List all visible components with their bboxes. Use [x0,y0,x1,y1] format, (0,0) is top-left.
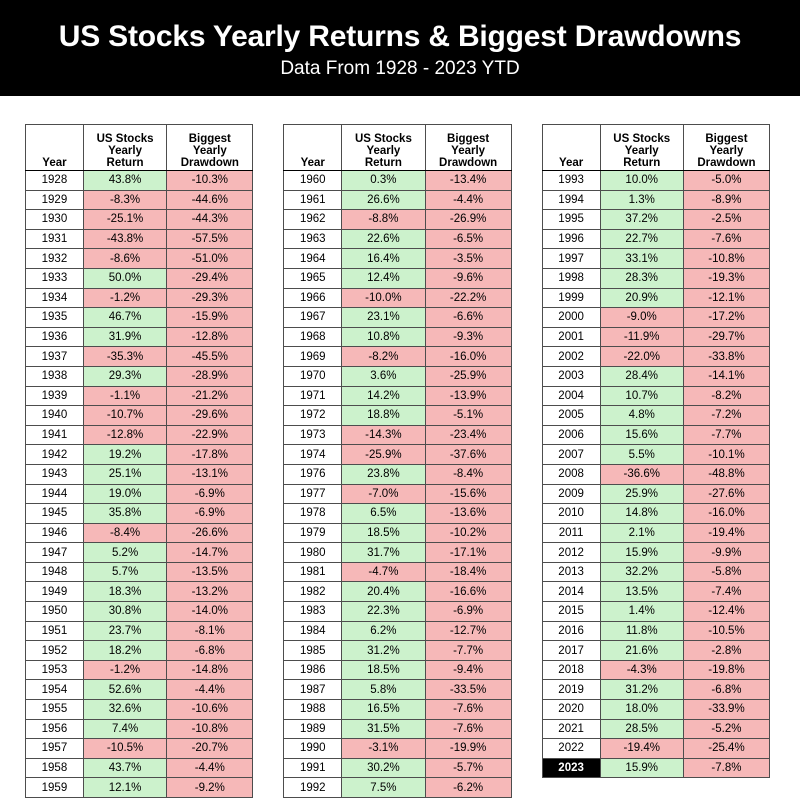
yearly-return-cell: 5.2% [83,543,166,563]
yearly-return-cell: 13.5% [600,582,683,602]
table-1960-1992: YearUS StocksYearlyReturnBiggestYearlyDr… [283,124,511,798]
biggest-drawdown-cell: -5.1% [425,406,511,426]
year-cell: 2008 [542,464,600,484]
yearly-return-cell: 6.2% [342,621,425,641]
yearly-return-cell: 3.6% [342,366,425,386]
biggest-drawdown-cell: -17.8% [167,445,253,465]
table-row: 195218.2%-6.8% [26,641,253,661]
biggest-drawdown-cell: -6.8% [167,641,253,661]
table-row: 1946-8.4%-26.6% [26,523,253,543]
table-row: 197218.8%-5.1% [284,406,511,426]
year-cell: 1989 [284,719,342,739]
biggest-drawdown-cell: -6.9% [167,484,253,504]
biggest-drawdown-cell: -44.6% [167,190,253,210]
table-row: 199920.9%-12.1% [542,288,769,308]
biggest-drawdown-cell: -6.5% [425,229,511,249]
year-cell: 1966 [284,288,342,308]
year-cell: 1955 [26,700,84,720]
yearly-return-cell: 5.5% [600,445,683,465]
table-row: 19927.5%-6.2% [284,778,511,798]
table-row: 196126.6%-4.4% [284,190,511,210]
tables-container: YearUS StocksYearlyReturnBiggestYearlyDr… [0,124,800,798]
table-row: 198220.4%-16.6% [284,582,511,602]
biggest-drawdown-cell: -23.4% [425,425,511,445]
yearly-return-cell: 18.5% [342,660,425,680]
table-1993-2023: YearUS StocksYearlyReturnBiggestYearlyDr… [542,124,770,778]
year-cell: 2000 [542,308,600,328]
year-cell: 1953 [26,660,84,680]
year-cell-highlighted: 2023 [542,758,600,778]
table-row: 1973-14.3%-23.4% [284,425,511,445]
yearly-return-cell: 2.1% [600,523,683,543]
year-cell: 1996 [542,229,600,249]
table-row: 201931.2%-6.8% [542,680,769,700]
table-row: 193631.9%-12.8% [26,327,253,347]
column-header-line: Yearly [426,145,511,157]
table-row: 197623.8%-8.4% [284,464,511,484]
biggest-drawdown-cell: -29.4% [167,268,253,288]
table-row: 198816.5%-7.6% [284,700,511,720]
yearly-return-cell: 10.8% [342,327,425,347]
biggest-drawdown-cell: -57.5% [167,229,253,249]
year-cell: 1994 [542,190,600,210]
table-row: 201721.6%-2.8% [542,641,769,661]
year-cell: 2016 [542,621,600,641]
table-row: 1953-1.2%-14.8% [26,660,253,680]
year-cell: 1932 [26,249,84,269]
table-row: 202315.9%-7.8% [542,758,769,778]
table-1928-1959: YearUS StocksYearlyReturnBiggestYearlyDr… [25,124,253,798]
biggest-drawdown-cell: -8.1% [167,621,253,641]
yearly-return-cell: -1.2% [83,288,166,308]
column-header-line: Drawdown [167,157,252,169]
biggest-drawdown-cell: -12.1% [683,288,769,308]
year-cell: 2009 [542,484,600,504]
biggest-drawdown-cell: -6.6% [425,308,511,328]
yearly-return-cell: 31.2% [600,680,683,700]
year-cell: 1998 [542,268,600,288]
column-header-yearly-return: US StocksYearlyReturn [342,125,425,171]
year-cell: 1942 [26,445,84,465]
yearly-return-cell: 23.1% [342,308,425,328]
table-row: 196416.4%-3.5% [284,249,511,269]
biggest-drawdown-cell: -5.0% [683,171,769,191]
yearly-return-cell: -4.3% [600,660,683,680]
biggest-drawdown-cell: -19.3% [683,268,769,288]
year-cell: 1944 [26,484,84,504]
table-row: 197114.2%-13.9% [284,386,511,406]
biggest-drawdown-cell: -21.2% [167,386,253,406]
column-header-biggest-drawdown: BiggestYearlyDrawdown [167,125,253,171]
yearly-return-cell: 11.8% [600,621,683,641]
table-row: 200925.9%-27.6% [542,484,769,504]
yearly-return-cell: 43.8% [83,171,166,191]
year-cell: 2022 [542,739,600,759]
table-row: 1940-10.7%-29.6% [26,406,253,426]
biggest-drawdown-cell: -10.3% [167,171,253,191]
yearly-return-cell: 52.6% [83,680,166,700]
table-row: 201332.2%-5.8% [542,562,769,582]
biggest-drawdown-cell: -7.6% [683,229,769,249]
year-cell: 1952 [26,641,84,661]
biggest-drawdown-cell: -29.6% [167,406,253,426]
biggest-drawdown-cell: -10.2% [425,523,511,543]
year-cell: 1971 [284,386,342,406]
yearly-return-cell: 10.0% [600,171,683,191]
biggest-drawdown-cell: -8.2% [683,386,769,406]
table-row: 199828.3%-19.3% [542,268,769,288]
table-row: 1932-8.6%-51.0% [26,249,253,269]
yearly-return-cell: 4.8% [600,406,683,426]
column-header-line: US Stocks [601,133,683,145]
yearly-return-cell: 19.2% [83,445,166,465]
year-cell: 1997 [542,249,600,269]
biggest-drawdown-cell: -7.4% [683,582,769,602]
year-cell: 2019 [542,680,600,700]
yearly-return-cell: 28.5% [600,719,683,739]
year-cell: 1957 [26,739,84,759]
column-header-line: US Stocks [342,133,424,145]
table-row: 1930-25.1%-44.3% [26,210,253,230]
yearly-return-cell: 5.7% [83,562,166,582]
yearly-return-cell: 1.3% [600,190,683,210]
table-row: 19703.6%-25.9% [284,366,511,386]
column-header-line: Yearly [684,145,769,157]
year-cell: 1965 [284,268,342,288]
table-row: 202128.5%-5.2% [542,719,769,739]
year-cell: 2007 [542,445,600,465]
yearly-return-cell: 25.9% [600,484,683,504]
table-row: 20075.5%-10.1% [542,445,769,465]
header-banner: US Stocks Yearly Returns & Biggest Drawd… [0,0,800,96]
year-cell: 1936 [26,327,84,347]
biggest-drawdown-cell: -13.6% [425,504,511,524]
year-cell: 2003 [542,366,600,386]
year-cell: 1937 [26,347,84,367]
table-row: 195030.8%-14.0% [26,602,253,622]
biggest-drawdown-cell: -17.2% [683,308,769,328]
yearly-return-cell: 31.5% [342,719,425,739]
table-row: 1969-8.2%-16.0% [284,347,511,367]
year-cell: 1984 [284,621,342,641]
column-header-biggest-drawdown: BiggestYearlyDrawdown [683,125,769,171]
yearly-return-cell: -8.4% [83,523,166,543]
biggest-drawdown-cell: -10.6% [167,700,253,720]
yearly-return-cell: -9.0% [600,308,683,328]
year-cell: 2001 [542,327,600,347]
biggest-drawdown-cell: -14.7% [167,543,253,563]
yearly-return-cell: 7.5% [342,778,425,798]
biggest-drawdown-cell: -25.9% [425,366,511,386]
page-title: US Stocks Yearly Returns & Biggest Drawd… [59,21,742,53]
table-row: 194419.0%-6.9% [26,484,253,504]
year-cell: 1935 [26,308,84,328]
yearly-return-cell: 31.9% [83,327,166,347]
year-cell: 1962 [284,210,342,230]
yearly-return-cell: 35.8% [83,504,166,524]
table-row: 198322.3%-6.9% [284,602,511,622]
yearly-return-cell: 32.6% [83,700,166,720]
biggest-drawdown-cell: -16.6% [425,582,511,602]
year-cell: 2005 [542,406,600,426]
table-row: 196810.8%-9.3% [284,327,511,347]
biggest-drawdown-cell: -25.4% [683,739,769,759]
biggest-drawdown-cell: -5.8% [683,562,769,582]
yearly-return-cell: 20.9% [600,288,683,308]
biggest-drawdown-cell: -9.4% [425,660,511,680]
yearly-return-cell: 5.8% [342,680,425,700]
yearly-return-cell: 6.5% [342,504,425,524]
yearly-return-cell: 22.6% [342,229,425,249]
table-row: 196512.4%-9.6% [284,268,511,288]
year-cell: 1929 [26,190,84,210]
biggest-drawdown-cell: -10.8% [683,249,769,269]
table-row: 1981-4.7%-18.4% [284,562,511,582]
year-cell: 2006 [542,425,600,445]
biggest-drawdown-cell: -9.9% [683,543,769,563]
biggest-drawdown-cell: -6.9% [167,504,253,524]
table-row: 1977-7.0%-15.6% [284,484,511,504]
year-cell: 1968 [284,327,342,347]
biggest-drawdown-cell: -4.4% [167,758,253,778]
biggest-drawdown-cell: -13.1% [167,464,253,484]
biggest-drawdown-cell: -7.8% [683,758,769,778]
biggest-drawdown-cell: -15.6% [425,484,511,504]
biggest-drawdown-cell: -7.7% [683,425,769,445]
table-row: 200328.4%-14.1% [542,366,769,386]
year-cell: 1999 [542,288,600,308]
column-header-yearly-return: US StocksYearlyReturn [600,125,683,171]
yearly-return-cell: -1.2% [83,660,166,680]
column-header-line: Yearly [84,145,166,157]
table-row: 2008-36.6%-48.8% [542,464,769,484]
year-cell: 1986 [284,660,342,680]
year-cell: 1928 [26,171,84,191]
yearly-return-cell: -10.5% [83,739,166,759]
yearly-return-cell: 16.5% [342,700,425,720]
biggest-drawdown-cell: -13.9% [425,386,511,406]
year-cell: 1974 [284,445,342,465]
table-row: 195532.6%-10.6% [26,700,253,720]
year-cell: 1976 [284,464,342,484]
biggest-drawdown-cell: -9.6% [425,268,511,288]
table-row: 194535.8%-6.9% [26,504,253,524]
biggest-drawdown-cell: -33.8% [683,347,769,367]
yearly-return-cell: 15.6% [600,425,683,445]
yearly-return-cell: 46.7% [83,308,166,328]
table-row: 201413.5%-7.4% [542,582,769,602]
table-row: 19600.3%-13.4% [284,171,511,191]
biggest-drawdown-cell: -12.7% [425,621,511,641]
yearly-return-cell: 18.5% [342,523,425,543]
yearly-return-cell: 12.4% [342,268,425,288]
yearly-return-cell: -36.6% [600,464,683,484]
yearly-return-cell: 28.3% [600,268,683,288]
yearly-return-cell: 37.2% [600,210,683,230]
biggest-drawdown-cell: -7.2% [683,406,769,426]
page-subtitle: Data From 1928 - 2023 YTD [280,59,519,79]
year-cell: 1951 [26,621,84,641]
biggest-drawdown-cell: -16.0% [683,504,769,524]
biggest-drawdown-cell: -27.6% [683,484,769,504]
biggest-drawdown-cell: -28.9% [167,366,253,386]
biggest-drawdown-cell: -5.7% [425,758,511,778]
table-row: 19875.8%-33.5% [284,680,511,700]
biggest-drawdown-cell: -12.4% [683,602,769,622]
table-row: 1934-1.2%-29.3% [26,288,253,308]
column-header-line: Yearly [601,145,683,157]
year-cell: 1940 [26,406,84,426]
biggest-drawdown-cell: -7.7% [425,641,511,661]
biggest-drawdown-cell: -29.3% [167,288,253,308]
yearly-return-cell: -19.4% [600,739,683,759]
year-cell: 1959 [26,778,84,798]
year-cell: 1970 [284,366,342,386]
biggest-drawdown-cell: -8.4% [425,464,511,484]
year-cell: 1941 [26,425,84,445]
biggest-drawdown-cell: -26.9% [425,210,511,230]
year-cell: 1950 [26,602,84,622]
table-row: 19567.4%-10.8% [26,719,253,739]
table-row: 199622.7%-7.6% [542,229,769,249]
table-row: 19485.7%-13.5% [26,562,253,582]
year-cell: 1978 [284,504,342,524]
yearly-return-cell: 16.4% [342,249,425,269]
table-row: 198931.5%-7.6% [284,719,511,739]
table-row: 195912.1%-9.2% [26,778,253,798]
year-cell: 2021 [542,719,600,739]
year-cell: 1967 [284,308,342,328]
biggest-drawdown-cell: -14.8% [167,660,253,680]
year-cell: 1995 [542,210,600,230]
yearly-return-cell: -8.2% [342,347,425,367]
yearly-return-cell: -25.9% [342,445,425,465]
yearly-return-cell: 30.8% [83,602,166,622]
year-cell: 2018 [542,660,600,680]
year-cell: 2015 [542,602,600,622]
column-header-line: Return [601,157,683,169]
year-cell: 2020 [542,700,600,720]
table-row: 194219.2%-17.8% [26,445,253,465]
table-row: 20054.8%-7.2% [542,406,769,426]
yearly-return-cell: 15.9% [600,758,683,778]
yearly-return-cell: 23.7% [83,621,166,641]
column-header-year: Year [26,125,84,171]
yearly-return-cell: -8.6% [83,249,166,269]
table-row: 2018-4.3%-19.8% [542,660,769,680]
year-cell: 1946 [26,523,84,543]
yearly-return-cell: -11.9% [600,327,683,347]
year-cell: 1934 [26,288,84,308]
year-cell: 1992 [284,778,342,798]
year-cell: 1977 [284,484,342,504]
yearly-return-cell: 50.0% [83,268,166,288]
table-row: 194918.3%-13.2% [26,582,253,602]
column-header-line: Drawdown [684,157,769,169]
column-header-year: Year [542,125,600,171]
biggest-drawdown-cell: -6.8% [683,680,769,700]
table-row: 200615.6%-7.7% [542,425,769,445]
yearly-return-cell: 10.7% [600,386,683,406]
table-row: 196723.1%-6.6% [284,308,511,328]
biggest-drawdown-cell: -29.7% [683,327,769,347]
biggest-drawdown-cell: -33.9% [683,700,769,720]
biggest-drawdown-cell: -45.5% [167,347,253,367]
yearly-return-cell: 33.1% [600,249,683,269]
yearly-return-cell: 18.0% [600,700,683,720]
biggest-drawdown-cell: -5.2% [683,719,769,739]
yearly-return-cell: -25.1% [83,210,166,230]
biggest-drawdown-cell: -51.0% [167,249,253,269]
column-header-biggest-drawdown: BiggestYearlyDrawdown [425,125,511,171]
year-cell: 1985 [284,641,342,661]
biggest-drawdown-cell: -44.3% [167,210,253,230]
year-cell: 2012 [542,543,600,563]
biggest-drawdown-cell: -2.5% [683,210,769,230]
column-header-line: Biggest [684,133,769,145]
table-row: 2022-19.4%-25.4% [542,739,769,759]
table-row: 1929-8.3%-44.6% [26,190,253,210]
table-row: 199310.0%-5.0% [542,171,769,191]
biggest-drawdown-cell: -18.4% [425,562,511,582]
yearly-return-cell: 18.2% [83,641,166,661]
column-header-line: Yearly [167,145,252,157]
year-cell: 1943 [26,464,84,484]
table-block: YearUS StocksYearlyReturnBiggestYearlyDr… [542,124,770,798]
biggest-drawdown-cell: -9.3% [425,327,511,347]
yearly-return-cell: 1.4% [600,602,683,622]
yearly-return-cell: 15.9% [600,543,683,563]
table-row: 1974-25.9%-37.6% [284,445,511,465]
yearly-return-cell: 30.2% [342,758,425,778]
table-row: 199537.2%-2.5% [542,210,769,230]
biggest-drawdown-cell: -14.0% [167,602,253,622]
yearly-return-cell: 14.8% [600,504,683,524]
year-cell: 1956 [26,719,84,739]
table-row: 201014.8%-16.0% [542,504,769,524]
table-row: 1937-35.3%-45.5% [26,347,253,367]
year-cell: 1993 [542,171,600,191]
table-row: 19846.2%-12.7% [284,621,511,641]
column-header-yearly-return: US StocksYearlyReturn [83,125,166,171]
year-cell: 1933 [26,268,84,288]
table-block: YearUS StocksYearlyReturnBiggestYearlyDr… [25,124,253,798]
biggest-drawdown-cell: -4.4% [167,680,253,700]
year-cell: 1972 [284,406,342,426]
table-row: 193350.0%-29.4% [26,268,253,288]
yearly-return-cell: 0.3% [342,171,425,191]
biggest-drawdown-cell: -4.4% [425,190,511,210]
year-cell: 1963 [284,229,342,249]
yearly-return-cell: 29.3% [83,366,166,386]
table-row: 1931-43.8%-57.5% [26,229,253,249]
table-row: 19475.2%-14.7% [26,543,253,563]
yearly-return-cell: -8.8% [342,210,425,230]
table-row: 196322.6%-6.5% [284,229,511,249]
yearly-return-cell: -4.7% [342,562,425,582]
biggest-drawdown-cell: -19.8% [683,660,769,680]
table-row: 1990-3.1%-19.9% [284,739,511,759]
table-row: 201215.9%-9.9% [542,543,769,563]
year-cell: 1980 [284,543,342,563]
year-cell: 1982 [284,582,342,602]
table-row: 199733.1%-10.8% [542,249,769,269]
table-header-row: YearUS StocksYearlyReturnBiggestYearlyDr… [542,125,769,171]
table-row: 195123.7%-8.1% [26,621,253,641]
table-row: 2002-22.0%-33.8% [542,347,769,367]
yearly-return-cell: -10.0% [342,288,425,308]
table-block: YearUS StocksYearlyReturnBiggestYearlyDr… [283,124,511,798]
